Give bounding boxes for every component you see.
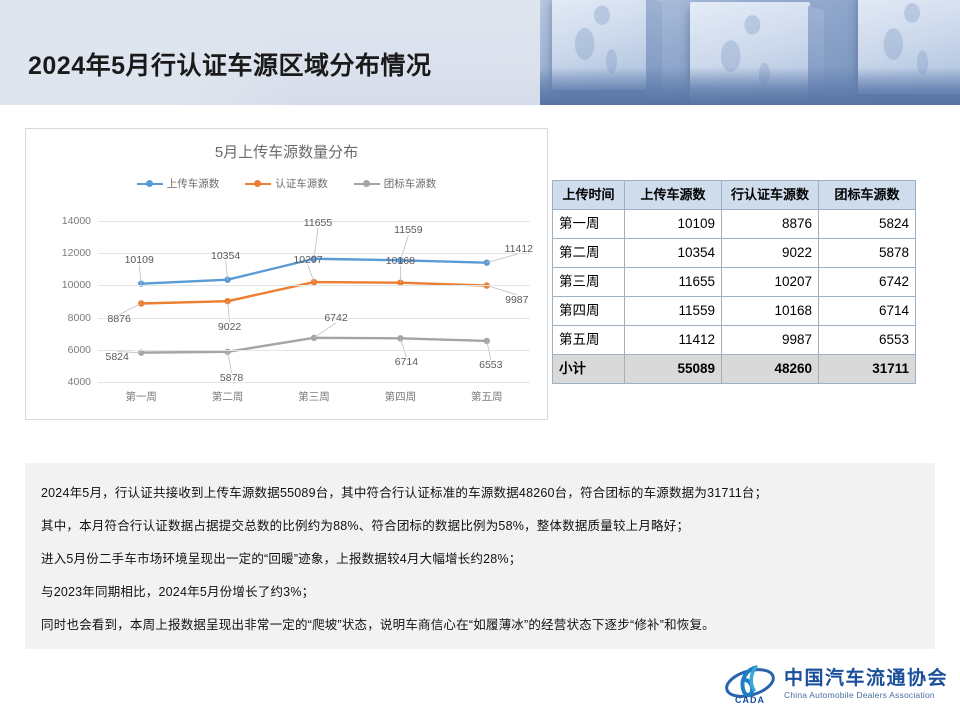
- data-label-leader: [228, 352, 232, 373]
- series-point: [484, 259, 490, 265]
- legend-marker-icon: [245, 179, 271, 188]
- table-cell-value: 5824: [819, 210, 916, 239]
- data-label: 10168: [386, 255, 415, 267]
- y-axis-tick-label: 6000: [68, 344, 91, 356]
- data-label-leader: [400, 338, 406, 357]
- x-axis-tick-label: 第五周: [471, 389, 503, 404]
- logo-text-block: 中国汽车流通协会 China Automobile Dealers Associ…: [784, 668, 948, 701]
- data-label: 6553: [479, 359, 502, 371]
- table-cell-value: 6714: [819, 297, 916, 326]
- summary-notes-box: 2024年5月，行认证共接收到上传车源数据55089台，其中符合行认证标准的车源…: [25, 463, 935, 649]
- cada-swirl-logo-icon: CADA: [724, 662, 776, 706]
- banner-cube-1: [552, 0, 648, 90]
- banner-cube-2: [690, 2, 810, 105]
- data-label: 11559: [394, 224, 422, 236]
- legend-label: 团标车源数: [384, 176, 437, 191]
- note-line-2: 其中，本月符合行认证数据占据提交总数的比例约为88%、符合团标的数据比例为58%…: [41, 518, 919, 534]
- table-col-header-3: 行认证车源数: [722, 181, 819, 210]
- chart-gridline: 6000: [98, 350, 530, 351]
- banner-cube-3: [858, 0, 960, 94]
- table-cell-value: 31711: [819, 355, 916, 384]
- table-row-label: 第四周: [553, 297, 625, 326]
- table-cell-value: 9022: [722, 239, 819, 268]
- x-axis-tick-label: 第二周: [212, 389, 244, 404]
- data-label: 11655: [304, 217, 332, 229]
- table-row-label: 第二周: [553, 239, 625, 268]
- table-cell-value: 10168: [722, 297, 819, 326]
- table-cell-value: 11412: [625, 326, 722, 355]
- series-point: [311, 335, 317, 341]
- data-label: 5824: [106, 351, 129, 363]
- data-label: 11412: [505, 243, 533, 255]
- legend-marker-icon: [354, 179, 380, 188]
- svg-text:CADA: CADA: [735, 695, 765, 705]
- table-cell-value: 11559: [625, 297, 722, 326]
- slide-canvas: 2024年5月行认证车源区域分布情况 5月上传车源数量分布 上传车源数认证车源数…: [0, 0, 960, 720]
- table-row-label: 小计: [553, 355, 625, 384]
- note-line-1: 2024年5月，行认证共接收到上传车源数据55089台，其中符合行认证标准的车源…: [41, 485, 919, 501]
- table-cell-value: 6553: [819, 326, 916, 355]
- weekly-data-table: 上传时间上传车源数行认证车源数团标车源数 第一周1010988765824第二周…: [552, 180, 916, 384]
- note-line-3: 进入5月份二手车市场环境呈现出一定的“回暖”迹象，上报数据较4月大幅增长约28%…: [41, 551, 919, 567]
- y-axis-tick-label: 10000: [62, 279, 91, 291]
- data-label: 8876: [108, 313, 131, 325]
- table-row: 第二周1035490225878: [553, 239, 916, 268]
- note-line-4: 与2023年同期相比，2024年5月份增长了约3%；: [41, 584, 919, 600]
- data-label-leader: [308, 265, 314, 282]
- data-label: 9022: [218, 321, 241, 333]
- table-cell-value: 10207: [722, 268, 819, 297]
- data-label: 10207: [293, 254, 322, 266]
- data-label: 9987: [505, 294, 528, 306]
- table-cell-value: 11655: [625, 268, 722, 297]
- table-row: 第五周1141299876553: [553, 326, 916, 355]
- legend-item-3: 团标车源数: [354, 176, 437, 191]
- table-cell-value: 9987: [722, 326, 819, 355]
- table-cell-value: 5878: [819, 239, 916, 268]
- y-axis-tick-label: 12000: [62, 247, 91, 259]
- table-header-row: 上传时间上传车源数行认证车源数团标车源数: [553, 181, 916, 210]
- chart-plot-area: 400060008000100001200014000第一周第二周第三周第四周第…: [98, 221, 530, 382]
- series-point: [311, 279, 317, 285]
- legend-label: 上传车源数: [167, 176, 220, 191]
- x-axis-tick-label: 第一周: [125, 389, 157, 404]
- table-total-row: 小计550894826031711: [553, 355, 916, 384]
- organization-logo: CADA 中国汽车流通协会 China Automobile Dealers A…: [724, 660, 940, 708]
- data-label: 6742: [324, 312, 347, 324]
- legend-label: 认证车源数: [275, 176, 328, 191]
- note-line-5: 同时也会看到，本周上报数据呈现出非常一定的“爬坡”状态，说明车商信心在“如履薄冰…: [41, 617, 919, 633]
- chart-gridline: 4000: [98, 382, 530, 383]
- table-col-header-4: 团标车源数: [819, 181, 916, 210]
- data-label-leader: [228, 301, 230, 322]
- logo-name-en: China Automobile Dealers Association: [784, 690, 948, 701]
- y-axis-tick-label: 14000: [62, 215, 91, 227]
- logo-name-cn: 中国汽车流通协会: [784, 668, 948, 690]
- data-label: 10354: [211, 250, 240, 262]
- chart-legend: 上传车源数认证车源数团标车源数: [26, 176, 547, 191]
- table-cell-value: 48260: [722, 355, 819, 384]
- table-row-label: 第一周: [553, 210, 625, 239]
- table-row: 第四周11559101686714: [553, 297, 916, 326]
- x-axis-tick-label: 第四周: [385, 389, 417, 404]
- data-label-leader: [487, 254, 519, 263]
- chart-gridline: 10000: [98, 285, 530, 286]
- header-banner: 2024年5月行认证车源区域分布情况: [0, 0, 960, 105]
- table-cell-value: 6742: [819, 268, 916, 297]
- data-label: 5878: [220, 372, 243, 384]
- table-cell-value: 8876: [722, 210, 819, 239]
- table-col-header-1: 上传时间: [553, 181, 625, 210]
- y-axis-tick-label: 4000: [68, 376, 91, 388]
- data-label: 10109: [125, 254, 154, 266]
- chart-title: 5月上传车源数量分布: [26, 141, 547, 162]
- legend-item-2: 认证车源数: [245, 176, 328, 191]
- banner-decoration-icon: [540, 0, 960, 105]
- table-row: 第三周11655102076742: [553, 268, 916, 297]
- legend-item-1: 上传车源数: [137, 176, 220, 191]
- x-axis-tick-label: 第三周: [298, 389, 330, 404]
- chart-series-layer: [98, 221, 530, 382]
- table-cell-value: 10354: [625, 239, 722, 268]
- page-title: 2024年5月行认证车源区域分布情况: [28, 46, 432, 82]
- table-cell-value: 10109: [625, 210, 722, 239]
- table-col-header-2: 上传车源数: [625, 181, 722, 210]
- chart-panel: 5月上传车源数量分布 上传车源数认证车源数团标车源数 4000600080001…: [25, 128, 548, 420]
- data-label-leader: [314, 323, 336, 338]
- chart-gridline: 8000: [98, 318, 530, 319]
- legend-marker-icon: [137, 179, 163, 188]
- table-row-label: 第三周: [553, 268, 625, 297]
- table-row-label: 第五周: [553, 326, 625, 355]
- y-axis-tick-label: 8000: [68, 312, 91, 324]
- data-label: 6714: [395, 356, 418, 368]
- table-cell-value: 55089: [625, 355, 722, 384]
- table-row: 第一周1010988765824: [553, 210, 916, 239]
